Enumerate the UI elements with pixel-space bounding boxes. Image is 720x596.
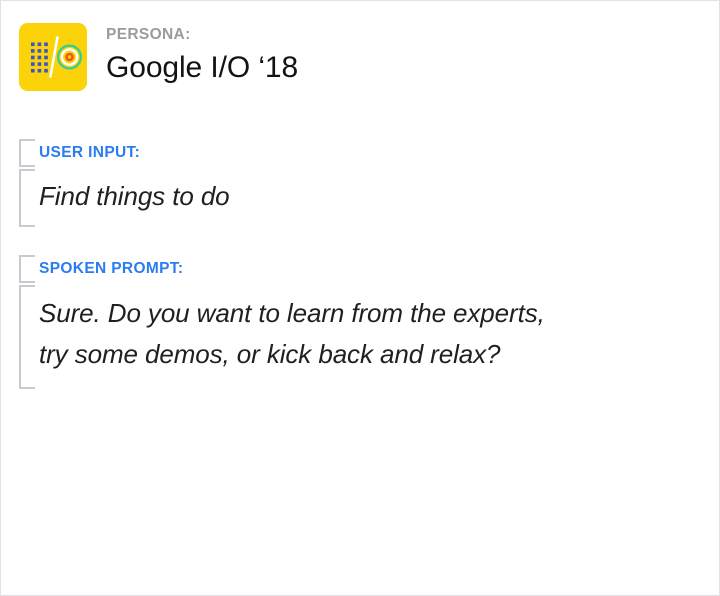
spoken-prompt-line-2: try some demos, or kick back and relax?	[39, 334, 689, 375]
persona-header: PERSONA: Google I/O ‘18	[19, 23, 298, 91]
bracket-label-spoken-prompt	[19, 255, 33, 283]
bracket-label-user-input	[19, 139, 33, 167]
section-spoken-prompt: SPOKEN PROMPT: Sure. Do you want to lear…	[19, 255, 689, 377]
spoken-prompt-value: Sure. Do you want to learn from the expe…	[39, 283, 689, 377]
bracket-body-spoken-prompt	[19, 285, 33, 389]
persona-label: PERSONA:	[106, 25, 298, 44]
google-io-logo-icon	[19, 23, 87, 91]
user-input-value: Find things to do	[39, 167, 689, 225]
bracket-body-user-input	[19, 169, 33, 227]
bracket-group-spoken-prompt: SPOKEN PROMPT: Sure. Do you want to lear…	[19, 255, 689, 377]
spoken-prompt-label: SPOKEN PROMPT:	[39, 255, 689, 283]
user-input-label: USER INPUT:	[39, 139, 689, 167]
spoken-prompt-line-1: Sure. Do you want to learn from the expe…	[39, 293, 689, 334]
bracket-group-user-input: USER INPUT: Find things to do	[19, 139, 689, 225]
section-user-input: USER INPUT: Find things to do	[19, 139, 689, 225]
persona-card: PERSONA: Google I/O ‘18 USER INPUT: Find…	[0, 0, 720, 596]
persona-title: Google I/O ‘18	[106, 50, 298, 85]
persona-text-block: PERSONA: Google I/O ‘18	[106, 23, 298, 86]
